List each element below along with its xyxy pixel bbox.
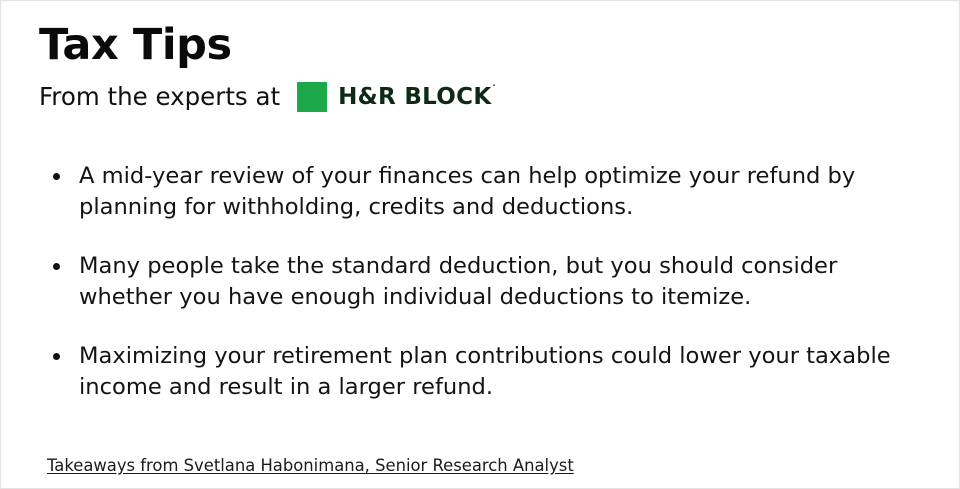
bullet-dot-icon (53, 353, 60, 360)
slide-header: Tax Tips From the experts at H&R BLOCK· (39, 23, 929, 114)
attribution-text: Takeaways from Svetlana Habonimana, Seni… (47, 456, 574, 475)
list-item-text: Many people take the standard deduction,… (79, 251, 927, 313)
bullet-dot-icon (53, 173, 60, 180)
hr-block-logo: H&R BLOCK· (297, 82, 495, 112)
hr-block-wordmark: H&R BLOCK· (338, 86, 495, 109)
trademark-icon: · (492, 81, 495, 90)
list-item: Many people take the standard deduction,… (47, 251, 927, 313)
list-item-text: Maximizing your retirement plan contribu… (79, 341, 927, 403)
list-item-text: A mid-year review of your finances can h… (79, 161, 927, 223)
bullet-dot-icon (53, 263, 60, 270)
brand-name: H&R BLOCK (338, 84, 491, 110)
tax-tips-slide: Tax Tips From the experts at H&R BLOCK· … (0, 0, 960, 489)
list-item: A mid-year review of your finances can h… (47, 161, 927, 223)
green-square-icon (297, 82, 327, 112)
subtitle-row: From the experts at H&R BLOCK· (39, 80, 929, 114)
slide-footer: Takeaways from Svetlana Habonimana, Seni… (47, 456, 574, 475)
subtitle-prefix: From the experts at (39, 85, 280, 110)
tips-list: A mid-year review of your finances can h… (47, 161, 927, 403)
list-item: Maximizing your retirement plan contribu… (47, 341, 927, 403)
page-title: Tax Tips (39, 23, 929, 68)
